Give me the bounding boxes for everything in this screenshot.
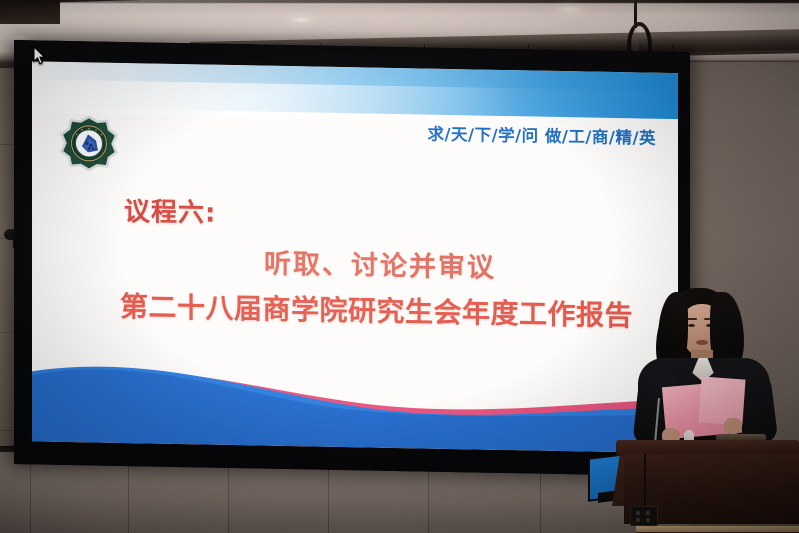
presentation-slide: 求/天/下/学/问 做/工/商/精/英 议程六: 听取、讨论并审议 第二十八届商… bbox=[32, 61, 678, 453]
mouse-pointer-icon bbox=[33, 46, 46, 65]
podium-and-speaker bbox=[596, 258, 799, 533]
university-seal-icon bbox=[58, 114, 120, 177]
projection-screen: 求/天/下/学/问 做/工/商/精/英 议程六: 听取、讨论并审议 第二十八届商… bbox=[14, 40, 690, 476]
podium-cable bbox=[644, 454, 646, 506]
slide-wave-decoration bbox=[32, 341, 678, 453]
downlight-icon bbox=[288, 16, 314, 24]
speaker-mouth bbox=[696, 340, 708, 345]
slide-tagline: 求/天/下/学/问 做/工/商/精/英 bbox=[428, 121, 656, 149]
slide-heading: 第二十八届商学院研究生会年度工作报告 bbox=[120, 285, 633, 334]
ceiling-shadow-left bbox=[0, 0, 60, 24]
downlight-icon bbox=[556, 6, 582, 14]
slide-agenda-label: 议程六: bbox=[124, 191, 216, 230]
slide-subtitle: 听取、讨论并审议 bbox=[264, 242, 496, 285]
conference-room-photo: 求/天/下/学/问 做/工/商/精/英 议程六: 听取、讨论并审议 第二十八届商… bbox=[0, 0, 799, 533]
speaker-eye bbox=[688, 324, 695, 327]
speaker-hand-right bbox=[724, 418, 742, 434]
wall-socket-icon bbox=[630, 506, 658, 526]
